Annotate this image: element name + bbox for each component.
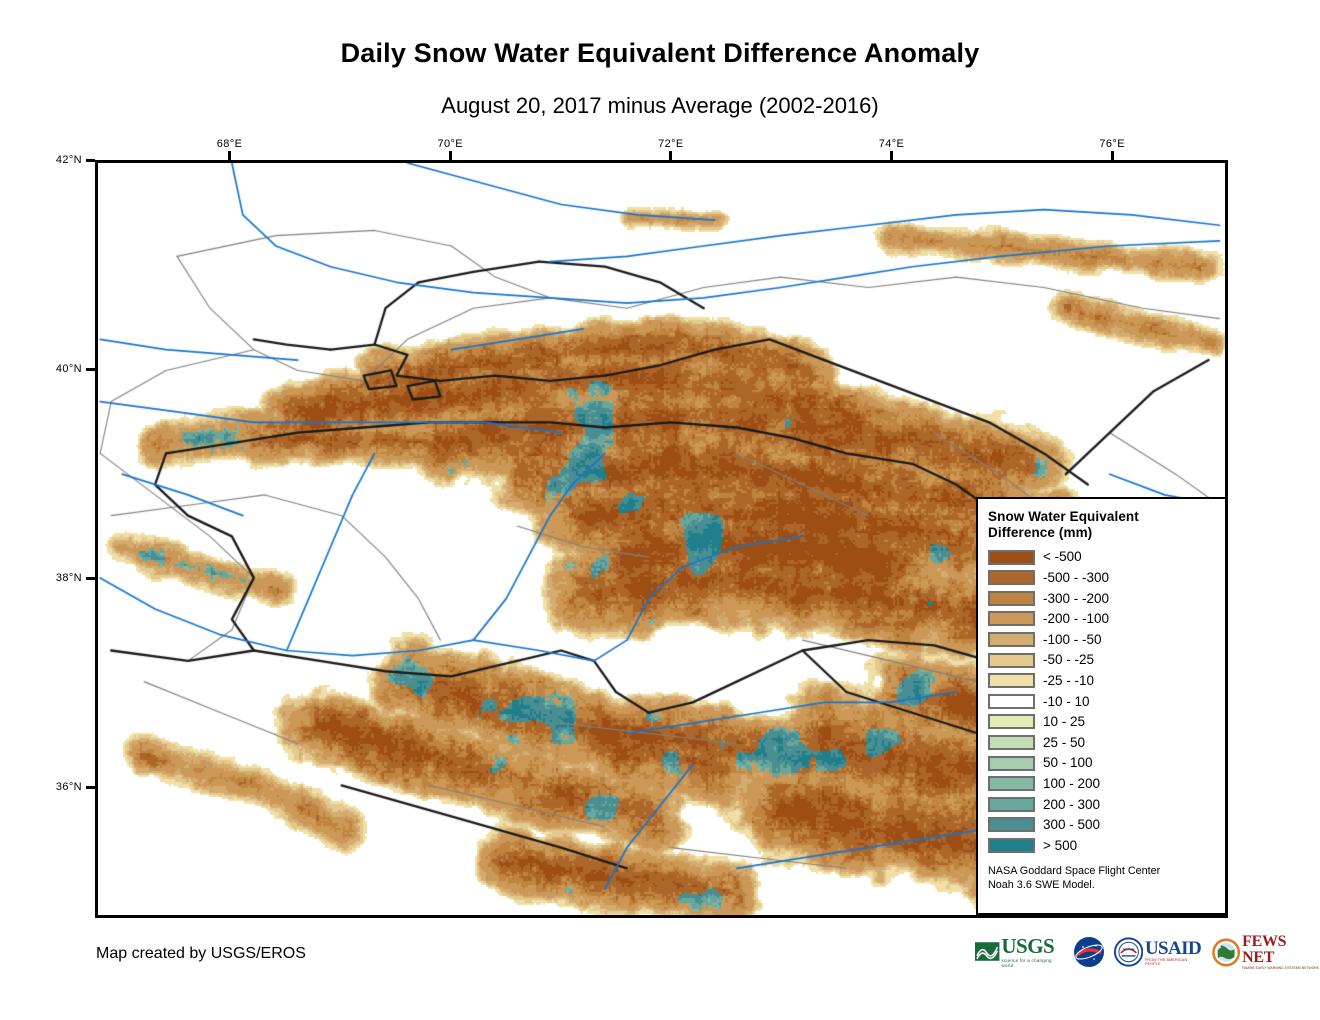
latitude-tick (86, 577, 95, 580)
legend-entry: 300 - 500 (988, 815, 1217, 836)
fews-net-logo-text: FEWS NET (1242, 934, 1320, 966)
latitude-tick-label: 42°N (56, 154, 82, 166)
nasa-logo[interactable] (1073, 935, 1105, 969)
latitude-tick-label: 40°N (56, 363, 82, 375)
legend-entry: 50 - 100 (988, 753, 1217, 774)
logo-strip: USGS science for a changing world USAID … (975, 934, 1320, 970)
legend-entry-list: < -500-500 - -300-300 - -200-200 - -100-… (988, 547, 1217, 856)
legend-swatch (988, 550, 1035, 565)
longitude-tick (1111, 151, 1114, 160)
legend-label: 50 - 100 (1043, 756, 1093, 770)
longitude-tick-label: 76°E (1099, 138, 1125, 150)
legend-swatch (988, 735, 1035, 750)
fews-net-logo-subtext: FAMINE EARLY WARNING SYSTEMS NETWORK (1242, 966, 1320, 970)
legend-entry: -100 - -50 (988, 629, 1217, 650)
legend-entry: 100 - 200 (988, 773, 1217, 794)
usaid-logo-text: USAID (1145, 939, 1203, 958)
legend-swatch (988, 756, 1035, 771)
usgs-mark-icon (975, 941, 1000, 963)
legend-entry: -10 - 10 (988, 691, 1217, 712)
legend-entry: -300 - -200 (988, 588, 1217, 609)
legend-swatch (988, 817, 1035, 832)
page-title: Daily Snow Water Equivalent Difference A… (0, 38, 1320, 69)
legend-entry: -500 - -300 (988, 567, 1217, 588)
legend-label: -10 - 10 (1043, 695, 1090, 709)
nasa-meatball-icon (1073, 936, 1105, 968)
legend-label: 300 - 500 (1043, 818, 1100, 832)
legend-label: -500 - -300 (1043, 571, 1109, 585)
legend-label: 10 - 25 (1043, 715, 1085, 729)
longitude-tick-label: 70°E (437, 138, 463, 150)
page-subtitle: August 20, 2017 minus Average (2002-2016… (0, 93, 1320, 119)
legend-label: -300 - -200 (1043, 592, 1109, 606)
legend-attribution: NASA Goddard Space Flight Center Noah 3.… (988, 864, 1217, 893)
legend-label: -100 - -50 (1043, 633, 1102, 647)
legend-entry: 10 - 25 (988, 712, 1217, 733)
legend-label: -25 - -10 (1043, 674, 1094, 688)
legend-entry: 25 - 50 (988, 732, 1217, 753)
usgs-logo-text: USGS (1001, 936, 1063, 957)
usaid-seal-icon (1114, 937, 1143, 967)
legend-swatch (988, 570, 1035, 585)
legend-entry: 200 - 300 (988, 794, 1217, 815)
legend-swatch (988, 632, 1035, 647)
legend-label: 25 - 50 (1043, 736, 1085, 750)
legend-swatch (988, 694, 1035, 709)
longitude-tick (228, 151, 231, 160)
longitude-tick-label: 74°E (879, 138, 905, 150)
latitude-tick-label: 36°N (56, 781, 82, 793)
legend-label: < -500 (1043, 550, 1082, 564)
legend-note-line1: NASA Goddard Space Flight Center (988, 864, 1217, 878)
legend-swatch (988, 611, 1035, 626)
legend-swatch (988, 776, 1035, 791)
usaid-logo[interactable]: USAID FROM THE AMERICAN PEOPLE (1114, 935, 1203, 969)
fews-net-logo[interactable]: FEWS NET FAMINE EARLY WARNING SYSTEMS NE… (1212, 935, 1320, 969)
latitude-tick (86, 368, 95, 371)
legend-title-line1: Snow Water Equivalent (988, 509, 1139, 524)
legend-entry: > 500 (988, 835, 1217, 856)
legend-swatch (988, 673, 1035, 688)
legend-title-line2: Difference (mm) (988, 525, 1092, 540)
latitude-tick-label: 38°N (56, 572, 82, 584)
usgs-logo[interactable]: USGS science for a changing world (975, 935, 1064, 969)
usaid-logo-subtext: FROM THE AMERICAN PEOPLE (1145, 958, 1203, 966)
legend-label: -50 - -25 (1043, 653, 1094, 667)
legend-swatch (988, 714, 1035, 729)
legend-entry: -200 - -100 (988, 609, 1217, 630)
legend-swatch (988, 797, 1035, 812)
legend-label: 200 - 300 (1043, 798, 1100, 812)
legend-swatch (988, 653, 1035, 668)
legend-title: Snow Water Equivalent Difference (mm) (988, 509, 1217, 541)
longitude-tick (669, 151, 672, 160)
longitude-tick (890, 151, 893, 160)
legend-label: 100 - 200 (1043, 777, 1100, 791)
legend-swatch (988, 591, 1035, 606)
usgs-logo-subtext: science for a changing world (1001, 958, 1063, 968)
legend-label: > 500 (1043, 839, 1077, 853)
latitude-tick (86, 159, 95, 162)
legend-entry: -25 - -10 (988, 670, 1217, 691)
longitude-tick-label: 72°E (658, 138, 684, 150)
latitude-tick (86, 786, 95, 789)
fews-globe-icon (1212, 938, 1240, 967)
legend-swatch (988, 838, 1035, 853)
legend-note-line2: Noah 3.6 SWE Model. (988, 878, 1217, 892)
map-legend: Snow Water Equivalent Difference (mm) < … (976, 497, 1227, 915)
longitude-tick-label: 68°E (217, 138, 243, 150)
legend-entry: < -500 (988, 547, 1217, 568)
legend-label: -200 - -100 (1043, 612, 1109, 626)
longitude-tick (449, 151, 452, 160)
map-credit: Map created by USGS/EROS (96, 945, 306, 963)
legend-entry: -50 - -25 (988, 650, 1217, 671)
